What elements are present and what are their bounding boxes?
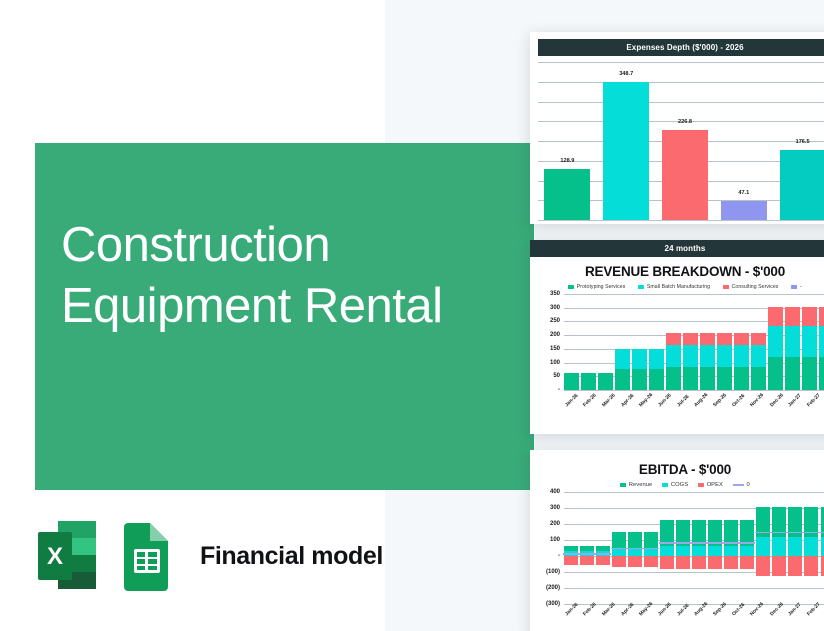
expenses-bar-value: 47.1 [721,190,767,196]
legend-swatch [698,483,704,487]
revenue-bar-segment [615,369,630,390]
ebitda-chart-title: EBITDA - $'000 [530,462,824,477]
revenue-bar-segment [717,345,732,367]
expenses-bars: 128.9348.7226.847.1176.5 [538,62,824,220]
revenue-bar-segment [666,333,681,345]
revenue-bar-segment [734,367,749,390]
page-title: Construction Equipment Rental [61,215,511,338]
ebitda-cogs-segment [708,546,722,556]
ebitda-opex-segment [660,556,674,569]
ebitda-revenue-segment [612,532,626,549]
ebitda-opex-segment [708,556,722,569]
ebitda-bar-column [676,492,690,604]
ebitda-trend-line [755,532,772,533]
ebitda-revenue-segment [644,532,658,549]
revenue-stacked-bar [564,373,579,390]
ebitda-bar-column [660,492,674,604]
y-tick-label: 100 [550,537,560,543]
legend-swatch [638,285,644,289]
revenue-bar-segment [632,349,647,369]
ebitda-cogs-segment [772,537,786,556]
microsoft-excel-icon[interactable]: X [36,519,98,593]
expenses-bar: 348.7 [603,82,649,220]
revenue-bar-segment [802,307,817,327]
gridline [564,390,824,391]
revenue-bars [564,294,824,390]
expenses-bar: 176.5 [780,150,824,220]
expenses-plot-area: 128.9348.7226.847.1176.5 [538,62,824,220]
x-tick-label: Jan-26 [564,393,579,408]
revenue-bar-segment [700,367,715,390]
ebitda-cogs-segment [724,546,738,556]
gridline [538,220,824,221]
revenue-bar-segment [734,333,749,345]
y-tick-label: 100 [550,360,560,366]
ebitda-bar-column [612,492,626,604]
ebitda-opex-segment [676,556,690,569]
ebitda-opex-segment [740,556,754,569]
revenue-stacked-bar [717,333,732,390]
ebitda-bar-column [740,492,754,604]
revenue-bar-segment [683,345,698,367]
y-tick-label: 50 [553,373,560,379]
y-tick-label: (100) [546,569,560,575]
revenue-bar-segment [802,326,817,357]
revenue-breakdown-card: 24 months REVENUE BREAKDOWN - $'000 Prot… [530,240,824,434]
ebitda-bar-column [596,492,610,604]
x-tick-label: Aug-26 [693,392,709,408]
legend-label: OPEX [707,482,723,488]
revenue-bar-segment [632,369,647,390]
y-tick-label: - [558,387,560,393]
revenue-bar-segment [751,345,766,367]
ebitda-x-axis: Jan-26Feb-26Mar-26Apr-26May-26Jun-26Jul-… [564,613,824,619]
legend-item: Prototyping Services [568,284,625,290]
ebitda-opex-segment [756,556,770,576]
revenue-bar-segment [564,373,579,390]
y-tick-label: 150 [550,346,560,352]
y-tick-label: - [558,553,560,559]
revenue-bar-segment [768,307,783,327]
ebitda-trend-line [675,542,692,543]
expenses-bar-column: 226.8 [662,62,708,220]
ebitda-bar-column [692,492,706,604]
ebitda-bar-column [628,492,642,604]
expenses-bar-value: 348.7 [603,71,649,77]
legend-swatch [791,285,797,289]
expenses-bar: 226.8 [662,130,708,220]
hero-banner: Construction Equipment Rental [35,143,534,490]
legend-item: Small Batch Manufacturing [638,284,710,290]
x-tick-label: Jun-26 [657,393,673,409]
revenue-bar-segment [734,345,749,367]
ebitda-trend-line [579,553,596,554]
revenue-stacked-bar [649,349,664,390]
legend-swatch [568,285,574,289]
legend-item: Revenue [620,482,652,488]
expenses-bar: 47.1 [721,201,767,220]
expenses-bar: 128.9 [544,169,590,220]
ebitda-bar-column [772,492,786,604]
ebitda-cogs-segment [692,546,706,556]
revenue-bar-segment [751,367,766,390]
ebitda-cogs-segment [804,537,818,556]
revenue-stacked-bar [734,333,749,390]
ebitda-trend-line [739,542,756,543]
ebitda-cogs-segment [644,549,658,556]
ebitda-bar-column [708,492,722,604]
ebitda-opex-segment [821,556,824,576]
ebitda-bar-column [644,492,658,604]
revenue-bar-segment [649,349,664,369]
legend-item: Consulting Services [723,284,778,290]
revenue-bar-segment [683,333,698,345]
legend-label: - [800,284,802,290]
ebitda-bar-column [724,492,738,604]
ebitda-trend-line [643,548,660,549]
y-tick-label: 300 [550,505,560,511]
revenue-bar-segment [819,307,824,327]
revenue-plot-area: 35030025020015010050- [564,294,824,390]
ebitda-trend-line [707,542,724,543]
legend-label: Consulting Services [732,284,779,290]
legend-item: OPEX [698,482,723,488]
revenue-stacked-bar [751,333,766,390]
revenue-bar-segment [666,345,681,367]
format-row: X Financial model [36,519,383,593]
ebitda-opex-segment [804,556,818,576]
x-tick-label: Feb-26 [582,393,598,409]
legend-label: 0 [746,482,749,488]
ebitda-trend-line [771,532,788,533]
y-tick-label: 300 [550,305,560,311]
ebitda-opex-segment [628,556,642,567]
ebitda-chart-legend: RevenueCOGSOPEX0 [530,482,824,488]
ebitda-bar-column [580,492,594,604]
revenue-bar-segment [819,357,824,390]
ebitda-opex-segment [724,556,738,569]
ebitda-plot-area: 400300200100-(100)(200)(300) [564,492,824,604]
revenue-bar-segment [649,369,664,390]
revenue-chart-title: REVENUE BREAKDOWN - $'000 [530,264,824,279]
revenue-bar-segment [581,373,596,390]
revenue-stacked-bar [683,333,698,390]
expenses-bar-column: 47.1 [721,62,767,220]
ebitda-cogs-segment [740,546,754,556]
ebitda-opex-segment [772,556,786,576]
ebitda-cogs-segment [756,537,770,556]
revenue-bar-segment [751,333,766,345]
revenue-bar-segment [768,357,783,390]
x-tick-label: Mar-26 [601,393,617,409]
legend-swatch [662,483,668,487]
expenses-bar-value: 128.9 [544,158,590,164]
ebitda-cogs-segment [788,537,802,556]
ebitda-cogs-segment [612,549,626,556]
legend-label: Prototyping Services [577,284,626,290]
ebitda-revenue-segment [628,532,642,549]
revenue-stacked-bar [615,349,630,390]
financial-model-label: Financial model [200,542,383,571]
legend-item: COGS [662,482,688,488]
ebitda-trend-line [803,532,820,533]
x-tick-label: Jul-26 [676,394,690,408]
revenue-bar-segment [819,326,824,357]
revenue-stacked-bar [819,307,824,390]
revenue-bar-segment [700,333,715,345]
expenses-bar-column: 348.7 [603,62,649,220]
legend-item: 0 [733,482,750,488]
ebitda-trend-line [627,548,644,549]
revenue-stacked-bar [598,373,613,390]
ebitda-trend-line [659,542,676,543]
ebitda-chart-card: EBITDA - $'000 RevenueCOGSOPEX0 40030020… [530,450,824,631]
x-tick-label: Sep-26 [712,392,728,408]
legend-label: Revenue [629,482,653,488]
revenue-stacked-bar [581,373,596,390]
y-tick-label: 200 [550,521,560,527]
google-sheets-icon[interactable] [116,519,178,593]
revenue-bar-segment [717,333,732,345]
ebitda-opex-segment [692,556,706,569]
legend-label: COGS [671,482,688,488]
ebitda-opex-segment [580,556,594,565]
ebitda-bar-column [564,492,578,604]
ebitda-cogs-segment [676,546,690,556]
svg-text:X: X [47,543,63,570]
expenses-chart-card: Expenses Depth ($'000) - 2026 128.9348.7… [530,32,824,224]
revenue-bar-segment [666,367,681,390]
revenue-bar-segment [615,349,630,369]
x-tick-label: Feb-27 [806,393,822,409]
ebitda-bar-column [804,492,818,604]
ebitda-opex-segment [644,556,658,567]
x-tick-label: Apr-26 [620,393,635,408]
revenue-bar-segment [785,326,800,357]
ebitda-cogs-segment [821,537,824,556]
revenue-bar-segment [802,357,817,390]
y-tick-label: (200) [546,585,560,591]
ebitda-bar-column [788,492,802,604]
y-tick-label: 250 [550,318,560,324]
revenue-bar-segment [768,326,783,357]
expenses-bar-column: 128.9 [544,62,590,220]
ebitda-trend-line [595,553,612,554]
revenue-stacked-bar [632,349,647,390]
y-tick-label: 350 [550,291,560,297]
ebitda-opex-segment [788,556,802,576]
ebitda-opex-segment [596,556,610,565]
ebitda-bar-column [756,492,770,604]
expenses-bar-value: 176.5 [780,139,824,145]
revenue-bar-segment [785,357,800,390]
revenue-bar-segment [598,373,613,390]
revenue-stacked-bar [802,307,817,390]
x-tick-label: Oct-26 [731,393,746,408]
legend-label: Small Batch Manufacturing [647,284,710,290]
y-tick-label: (300) [546,601,560,607]
ebitda-cogs-segment [660,546,674,556]
expenses-bar-value: 226.8 [662,119,708,125]
revenue-chart-header: 24 months [530,240,824,257]
expenses-chart-header: Expenses Depth ($'000) - 2026 [538,39,824,56]
x-tick-label: Nov-26 [749,392,765,408]
ebitda-trend-line [691,542,708,543]
y-tick-label: 400 [550,489,560,495]
ebitda-trend-line [723,542,740,543]
revenue-stacked-bar [768,307,783,390]
ebitda-trend-line [819,532,824,533]
revenue-bar-segment [700,345,715,367]
legend-item: - [791,284,801,290]
legend-swatch [723,285,729,289]
revenue-bar-segment [717,367,732,390]
ebitda-trend-line [563,553,580,554]
x-tick-label: Jan-27 [787,393,802,408]
revenue-stacked-bar [666,333,681,390]
x-tick-label: May-26 [638,392,654,408]
y-tick-label: 200 [550,332,560,338]
revenue-chart-legend: Prototyping ServicesSmall Batch Manufact… [530,284,824,290]
ebitda-bar-column [821,492,824,604]
legend-swatch [620,483,626,487]
x-tick-label: Dec-26 [769,392,785,408]
ebitda-cogs-segment [628,549,642,556]
ebitda-trend-line [787,532,804,533]
ebitda-bars [564,492,824,604]
ebitda-trend-line [611,548,628,549]
revenue-x-axis: Jan-26Feb-26Mar-26Apr-26May-26Jun-26Jul-… [564,404,824,410]
revenue-stacked-bar [785,307,800,390]
legend-swatch [733,484,744,486]
revenue-stacked-bar [700,333,715,390]
revenue-bar-segment [785,307,800,327]
revenue-bar-segment [683,367,698,390]
ebitda-opex-segment [564,556,578,565]
expenses-bar-column: 176.5 [780,62,824,220]
ebitda-opex-segment [612,556,626,567]
